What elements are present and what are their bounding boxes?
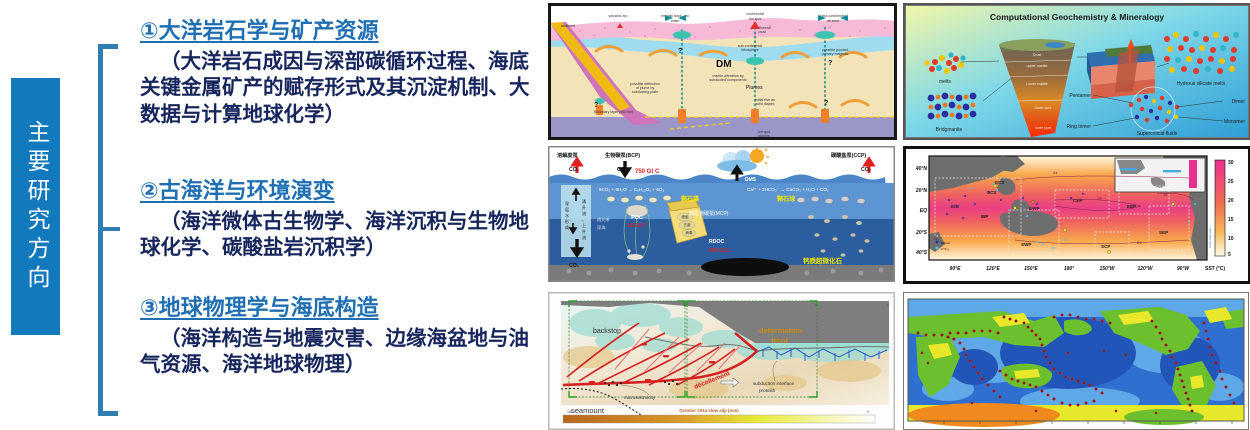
svg-text:CO₂: CO₂ <box>617 167 628 173</box>
research-direction-3-body: （海洋构造与地震灾害、边缘海盆地与油气资源、海洋地球物理） <box>140 325 540 378</box>
main-research-directions-label: 主要研究方向 <box>24 120 47 294</box>
svg-text:颗石藻: 颗石藻 <box>681 195 700 203</box>
svg-text:24: 24 <box>1136 240 1142 245</box>
svg-text:28: 28 <box>1096 196 1102 201</box>
svg-text:Ocean Data View: Ocean Data View <box>1208 228 1212 248</box>
research-direction-2-heading[interactable]: ②古海洋与环境演变 <box>140 178 540 206</box>
svg-text:650 Gt C: 650 Gt C <box>709 248 730 254</box>
svg-text:sediment: sediment <box>561 24 576 28</box>
svg-text:WP: WP <box>981 214 988 219</box>
svg-text:lithosphere: lithosphere <box>741 48 759 52</box>
svg-text:40°S: 40°S <box>915 250 928 256</box>
svg-text:120°E: 120°E <box>986 266 1000 272</box>
svg-text:solid diapirs: solid diapirs <box>756 102 775 106</box>
svg-text:DMS: DMS <box>745 177 757 183</box>
svg-text:?: ? <box>594 102 598 109</box>
svg-text:180°: 180° <box>1064 266 1075 272</box>
svg-text:deformation: deformation <box>759 326 803 335</box>
svg-text:DM: DM <box>716 59 732 70</box>
bracket-middle-connector <box>98 227 120 231</box>
svg-text:20: 20 <box>1228 198 1234 204</box>
figure-ocean-carbon-pumps: 6CO₂ + 6H₂O → C₆H₁₂O₆ + 6O₂ Ca²⁺ + 2HCO₃… <box>548 146 895 282</box>
svg-text:Dimer: Dimer <box>1232 99 1246 105</box>
svg-text:RDOC: RDOC <box>709 239 725 245</box>
slide-canvas: 主要研究方向 ①大洋岩石学与矿产资源 （大洋岩石成因与深部碳循环过程、海底关键金… <box>0 0 1250 430</box>
svg-text:升: 升 <box>582 228 586 234</box>
figure-computational-geochemistry: Computational Geochemistry & Mineralogy … <box>903 3 1250 140</box>
svg-text:protolith: protolith <box>759 388 776 393</box>
figure-global-earthquake-map <box>903 292 1249 430</box>
research-direction-1-heading[interactable]: ①大洋岩石学与矿产资源 <box>140 18 540 46</box>
svg-text:melts: melts <box>939 79 951 85</box>
svg-text:90°E: 90°E <box>950 266 962 272</box>
svg-text:成: 成 <box>565 224 569 230</box>
figure-subduction-interface-section: backstop seamount microseismicity subduc… <box>548 292 895 430</box>
svg-text:20 Gt C: 20 Gt C <box>628 223 647 229</box>
svg-text:Boundary layer (660 km): Boundary layer (660 km) <box>594 110 633 114</box>
svg-text:CO₂: CO₂ <box>569 263 580 269</box>
svg-text:subduction interface: subduction interface <box>753 381 795 386</box>
svg-text:Crust: Crust <box>1033 53 1042 57</box>
svg-text:ECS: ECS <box>995 180 1004 185</box>
svg-text:continental: continental <box>746 12 764 16</box>
svg-text:升: 升 <box>582 204 586 210</box>
svg-text:钙质超微化石: 钙质超微化石 <box>803 256 843 265</box>
svg-text:volcanic arc: volcanic arc <box>609 14 628 18</box>
svg-text:seamount: seamount <box>571 406 605 415</box>
svg-text:形: 形 <box>565 218 569 224</box>
svg-text:溶解度泵: 溶解度泵 <box>557 151 579 159</box>
svg-text:涌: 涌 <box>582 198 586 204</box>
svg-text:Pentamer: Pentamer <box>1069 93 1091 99</box>
svg-text:40°N: 40°N <box>915 166 928 172</box>
svg-text:24: 24 <box>932 236 938 241</box>
svg-text:EQ: EQ <box>920 208 927 214</box>
svg-text:层: 层 <box>565 206 569 212</box>
svg-text:crust: crust <box>758 30 766 34</box>
svg-text:backstop: backstop <box>593 328 621 335</box>
svg-text:EWP: EWP <box>1029 206 1039 211</box>
svg-text:细菌: 细菌 <box>681 214 689 219</box>
svg-text:90°W: 90°W <box>1177 266 1191 272</box>
svg-text:10: 10 <box>1228 236 1234 242</box>
svg-text:Ca²⁺ + 2HCO₃⁻ → CaCO₃ + H₂O +: Ca²⁺ + 2HCO₃⁻ → CaCO₃ + H₂O + CO₂ <box>747 187 829 192</box>
svg-text:750 Gt C: 750 Gt C <box>635 169 660 175</box>
svg-text:EEP: EEP <box>1127 204 1136 209</box>
svg-text:SCP: SCP <box>1101 244 1110 249</box>
svg-text:Plumes: Plumes <box>746 85 763 91</box>
svg-text:rift zone: rift zone <box>827 19 840 23</box>
svg-text:180: 180 <box>567 410 573 414</box>
svg-text:20°S: 20°S <box>915 230 928 236</box>
svg-text:28: 28 <box>1162 192 1168 197</box>
svg-text:Supercritical fluids: Supercritical fluids <box>1137 131 1178 137</box>
svg-text:上: 上 <box>582 222 586 228</box>
svg-text:SWP: SWP <box>1021 242 1031 247</box>
bracket-top-tick <box>98 44 118 49</box>
svg-text:深: 深 <box>565 200 569 206</box>
research-direction-2: ②古海洋与环境演变 （海洋微体古生物学、海洋沉积与生物地球化学、碳酸盐岩沉积学） <box>140 178 540 261</box>
svg-text:微生物碳泵(MCP): 微生物碳泵(MCP) <box>689 210 729 217</box>
svg-text:颗石球: 颗石球 <box>777 195 796 203</box>
svg-text:POC: POC <box>631 215 643 221</box>
svg-text:basin: basin <box>671 19 680 23</box>
svg-text:6CO₂ + 6H₂O → C₆H₁₂O₆ + 6O₂: 6CO₂ + 6H₂O → C₆H₁₂O₆ + 6O₂ <box>599 187 664 192</box>
svg-text:Outer core: Outer core <box>1035 106 1052 110</box>
svg-text:microseismicity: microseismicity <box>624 395 656 400</box>
svg-text:、: 、 <box>582 217 586 222</box>
svg-text:生物碳泵(BCP): 生物碳泵(BCP) <box>605 151 640 159</box>
svg-text:碳酸盐泵(CCP): 碳酸盐泵(CCP) <box>831 151 866 159</box>
svg-text:SEP: SEP <box>1159 230 1168 235</box>
svg-text:?: ? <box>824 100 828 107</box>
svg-text:Mg/Ca: Mg/Ca <box>941 241 950 245</box>
research-direction-1: ①大洋岩石学与矿产资源 （大洋岩石成因与深部碳循环过程、海底关键金属矿产的赋存形… <box>140 18 540 127</box>
figure-pacific-sst-map: 24 24 24 28 28 28 ECS SCS EIO EW <box>903 146 1250 284</box>
svg-text:水: 水 <box>565 212 569 218</box>
svg-text:15: 15 <box>1228 217 1234 223</box>
svg-text:subducting plate: subducting plate <box>632 90 658 94</box>
svg-text:front: front <box>771 336 789 345</box>
svg-text:SST (°C): SST (°C) <box>1205 266 1225 272</box>
svg-text:病毒: 病毒 <box>685 230 693 235</box>
svg-text:流: 流 <box>582 234 586 240</box>
svg-text:20°N: 20°N <box>915 188 928 194</box>
main-research-directions-box: 主要研究方向 <box>11 78 60 335</box>
svg-text:古菌: 古菌 <box>683 222 691 227</box>
svg-text:Ring trimer: Ring trimer <box>1067 124 1092 130</box>
svg-text:Monomer: Monomer <box>1224 119 1245 125</box>
figure-mantle-plume-cross-section: DM Plumes volcanic arc ensialic back- ar… <box>548 3 897 140</box>
svg-text:Hydrous silicate melts: Hydrous silicate melts <box>1177 81 1226 87</box>
svg-text:U^K'₃₇: U^K'₃₇ <box>941 247 949 251</box>
svg-text:24: 24 <box>1052 170 1058 175</box>
svg-text:深海: 深海 <box>597 224 606 231</box>
svg-text:upper mantle: upper mantle <box>1027 64 1048 68</box>
svg-text:EIO: EIO <box>951 204 959 209</box>
svg-text:Lower mantle: Lower mantle <box>1026 82 1048 86</box>
svg-text:subducted components: subducted components <box>709 78 746 82</box>
svg-text:Bridgmanite: Bridgmanite <box>936 127 963 133</box>
research-direction-3-heading[interactable]: ③地球物理学与海底构造 <box>140 295 540 323</box>
svg-text:25: 25 <box>1228 179 1234 185</box>
svg-text:Inner core: Inner core <box>1035 126 1051 130</box>
svg-text:150°E: 150°E <box>1024 266 1038 272</box>
svg-text:150°W: 150°W <box>1099 266 1115 272</box>
research-direction-3: ③地球物理学与海底构造 （海洋构造与地震灾害、边缘海盆地与油气资源、海洋地球物理… <box>140 295 540 378</box>
svg-text:CO₂: CO₂ <box>569 167 580 173</box>
svg-text:hot spot: hot spot <box>749 17 762 21</box>
svg-text:透光带: 透光带 <box>597 216 610 223</box>
svg-text:0: 0 <box>867 410 869 414</box>
svg-text:5: 5 <box>1228 252 1231 258</box>
svg-text:CO₂: CO₂ <box>861 167 872 173</box>
research-direction-1-body: （大洋岩石成因与深部碳循环过程、海底关键金属矿产的赋存形式及其沉淀机制、大数据与… <box>140 48 540 128</box>
research-direction-2-body: （海洋微体古生物学、海洋沉积与生物地球化学、碳酸盐岩沉积学） <box>140 208 540 261</box>
svg-text:primary magmas: primary magmas <box>822 52 849 56</box>
svg-text:流: 流 <box>582 210 586 216</box>
grouping-bracket <box>98 44 128 416</box>
svg-text:?: ? <box>678 48 682 55</box>
bracket-bottom-tick <box>98 411 118 416</box>
figure-computational-geochemistry-title: Computational Geochemistry & Mineralogy <box>990 12 1165 22</box>
svg-text:CEP: CEP <box>1073 198 1082 203</box>
svg-text:30: 30 <box>1228 160 1234 166</box>
svg-text:?: ? <box>828 60 832 67</box>
svg-text:120°W: 120°W <box>1137 266 1153 272</box>
svg-text:October 2014 slow slip (mm): October 2014 slow slip (mm) <box>679 408 739 413</box>
